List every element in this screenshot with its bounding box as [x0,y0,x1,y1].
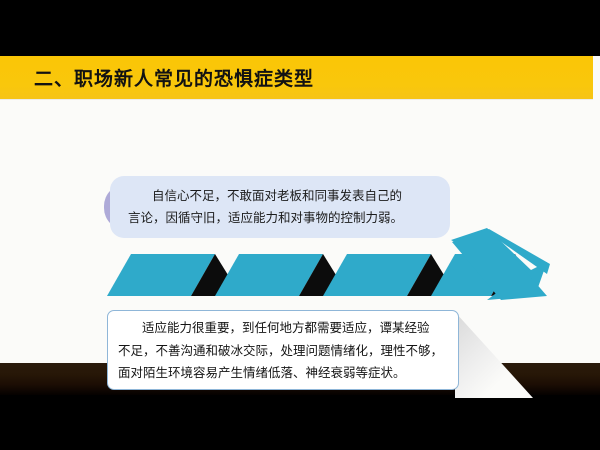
page-title: 二、职场新人常见的恐惧症类型 [34,64,314,91]
bottom-box-line-3: 面对陌生环境容易产生情绪低落、神经衰弱等症状。 [118,362,448,385]
top-bubble-text: 自信心不足，不敢面对老板和同事发表自己的 言论，因循守旧，适应能力和对事物的控制… [110,176,450,238]
slide-title-bar: 二、职场新人常见的恐惧症类型 [0,56,593,99]
top-speech-bubble: 自信心不足，不敢面对老板和同事发表自己的 言论，因循守旧，适应能力和对事物的控制… [110,176,450,238]
top-bubble-line-1: 自信心不足，不敢面对老板和同事发表自己的 [128,185,436,207]
bottom-box-line-2: 不足，不善沟通和破冰交际，处理问题情绪化，理性不够， [118,340,448,363]
page-curl-shadow [455,312,533,398]
letterbox-top [0,0,600,56]
presentation-slide: 二、职场新人常见的恐惧症类型 自信心不足，不敢面对老板和同事发表自己的 言论，因… [0,0,600,450]
top-bubble-line-2: 言论，因循守旧，适应能力和对事物的控制力弱。 [128,207,436,229]
slide-canvas: 二、职场新人常见的恐惧症类型 自信心不足，不敢面对老板和同事发表自己的 言论，因… [0,56,600,363]
arrow-svg [95,228,550,300]
rising-chevron-arrow [95,228,550,300]
bottom-text-box: 适应能力很重要，到任何地方都需要适应，谭某经验 不足，不善沟通和破冰交际，处理问… [107,310,459,390]
letterbox-bottom [0,395,600,450]
bottom-box-line-1: 适应能力很重要，到任何地方都需要适应，谭某经验 [118,317,448,340]
